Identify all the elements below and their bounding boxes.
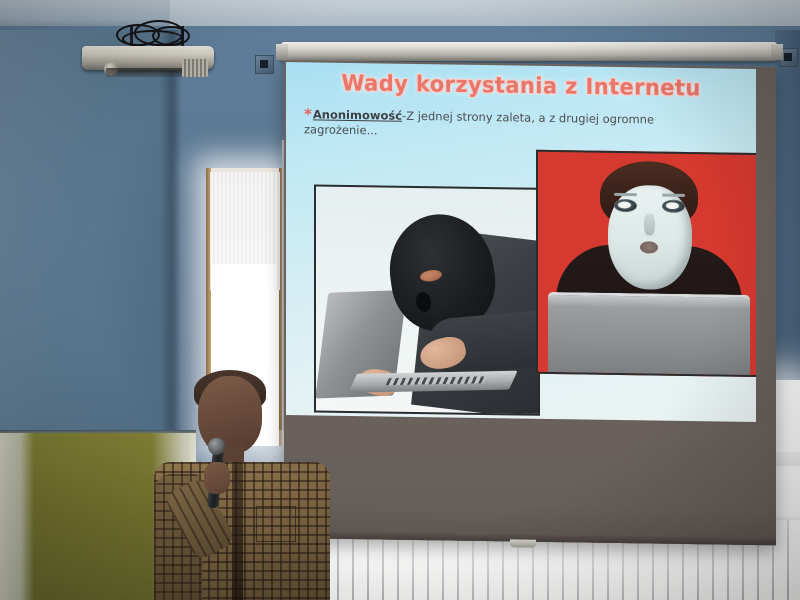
mask-eye-left [614,199,637,212]
mask-brow-right [662,194,685,197]
screen-unlit-fabric [284,417,776,545]
photo-scene: Wady korzystania z Internetu *Anonimowoś… [0,0,800,600]
projector-body [82,46,214,70]
projection-screen[interactable]: Wady korzystania z Internetu *Anonimowoś… [284,60,776,545]
mask-brow-left [614,193,637,196]
slide-title: Wady korzystania z Internetu [286,69,756,101]
microphone-icon[interactable] [208,438,225,455]
roller-cap-right [771,44,783,60]
bullet-marker-icon: * [304,105,312,123]
bullet-keyword: Anonimowość [313,107,402,122]
projected-slide: Wady korzystania z Internetu *Anonimowoś… [286,62,756,422]
projector-vent [182,59,208,77]
presenter [152,366,332,600]
shirt-placket [232,462,243,600]
shirt-pocket [256,506,296,542]
bullet-text: Z jednej strony zaleta, a z drugiej ogro… [406,109,654,127]
presenter-hand [204,462,230,494]
mask-mouth [640,241,658,253]
projector-label-band [106,68,190,77]
mask-eye-right [662,200,685,213]
ceiling-projector [82,36,214,72]
slide-image-hacker [314,184,540,415]
presenter-head [198,376,262,454]
wall-sensor-icon [255,55,274,74]
slide-image-masked-person [536,150,756,377]
masked-person-laptop-lid [548,292,750,377]
wall-left-column [0,30,172,450]
screen-roller-casing[interactable] [281,42,777,61]
screen-pull-handle[interactable] [510,539,536,547]
wall-lower-highlight [0,433,34,600]
slide-bullet: *Anonimowość-Z jednej strony zaleta, a z… [304,107,750,144]
mask-nose [644,213,655,235]
roller-cap-left [276,44,288,60]
bullet-text-line2: zagrożenie... [304,122,750,144]
